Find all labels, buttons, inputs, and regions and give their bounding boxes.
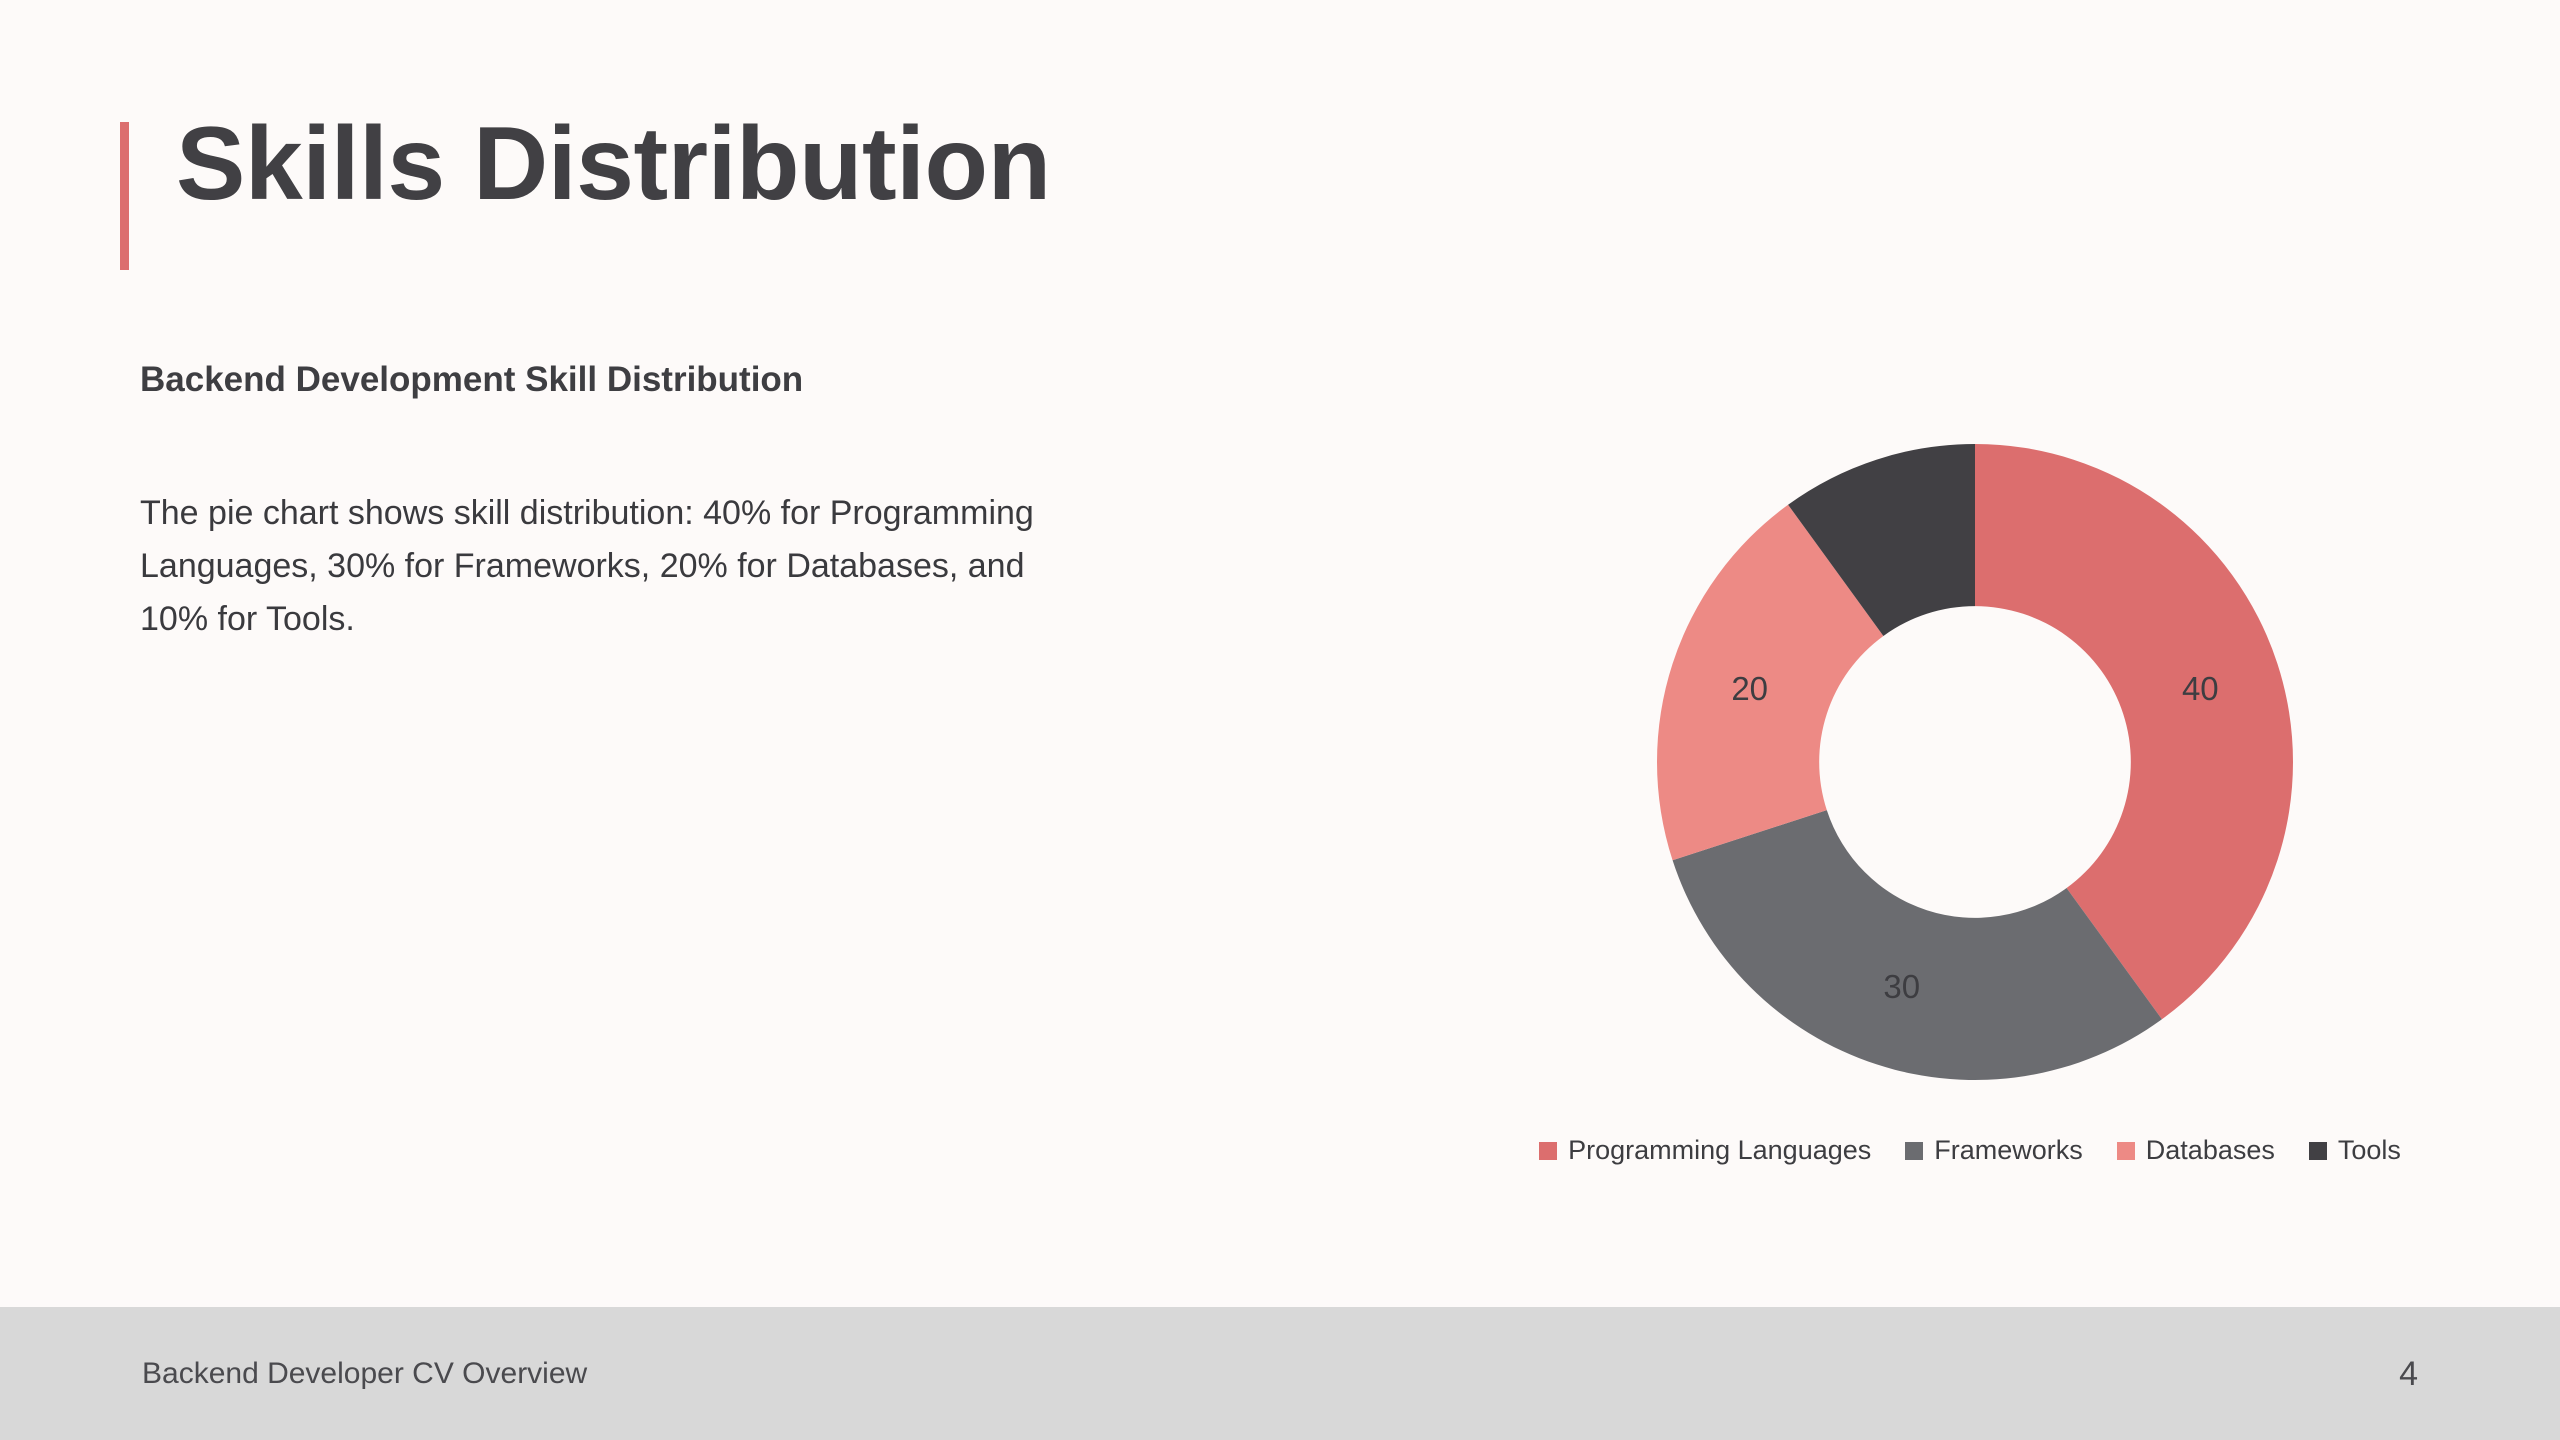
title-accent-bar bbox=[120, 122, 129, 270]
legend-item[interactable]: Programming Languages bbox=[1539, 1135, 1871, 1166]
legend-swatch-icon bbox=[2117, 1142, 2135, 1160]
legend-item-label: Programming Languages bbox=[1568, 1135, 1871, 1166]
legend-item[interactable]: Frameworks bbox=[1905, 1135, 2083, 1166]
legend-item-label: Frameworks bbox=[1934, 1135, 2083, 1166]
legend-item-label: Tools bbox=[2338, 1135, 2401, 1166]
page-title: Skills Distribution bbox=[176, 108, 1051, 220]
footer-page-number: 4 bbox=[2399, 1355, 2418, 1394]
chart-region: 403020 Programming LanguagesFrameworksDa… bbox=[1520, 400, 2420, 1200]
legend-swatch-icon bbox=[2309, 1142, 2327, 1160]
legend-swatch-icon bbox=[1539, 1142, 1557, 1160]
legend-item[interactable]: Databases bbox=[2117, 1135, 2275, 1166]
chart-legend: Programming LanguagesFrameworksDatabases… bbox=[1520, 1135, 2420, 1166]
footer-text: Backend Developer CV Overview bbox=[142, 1357, 587, 1391]
content-subtitle: Backend Development Skill Distribution bbox=[140, 360, 803, 400]
donut-chart-svg bbox=[1635, 422, 2315, 1102]
donut-chart: 403020 bbox=[1635, 422, 2315, 1102]
legend-item[interactable]: Tools bbox=[2309, 1135, 2401, 1166]
legend-swatch-icon bbox=[1905, 1142, 1923, 1160]
legend-item-label: Databases bbox=[2146, 1135, 2275, 1166]
donut-segment[interactable] bbox=[1673, 810, 2162, 1080]
slide-footer: Backend Developer CV Overview 4 bbox=[0, 1307, 2560, 1440]
content-body-text: The pie chart shows skill distribution: … bbox=[140, 487, 1100, 646]
slide: Skills Distribution Backend Development … bbox=[0, 0, 2560, 1440]
